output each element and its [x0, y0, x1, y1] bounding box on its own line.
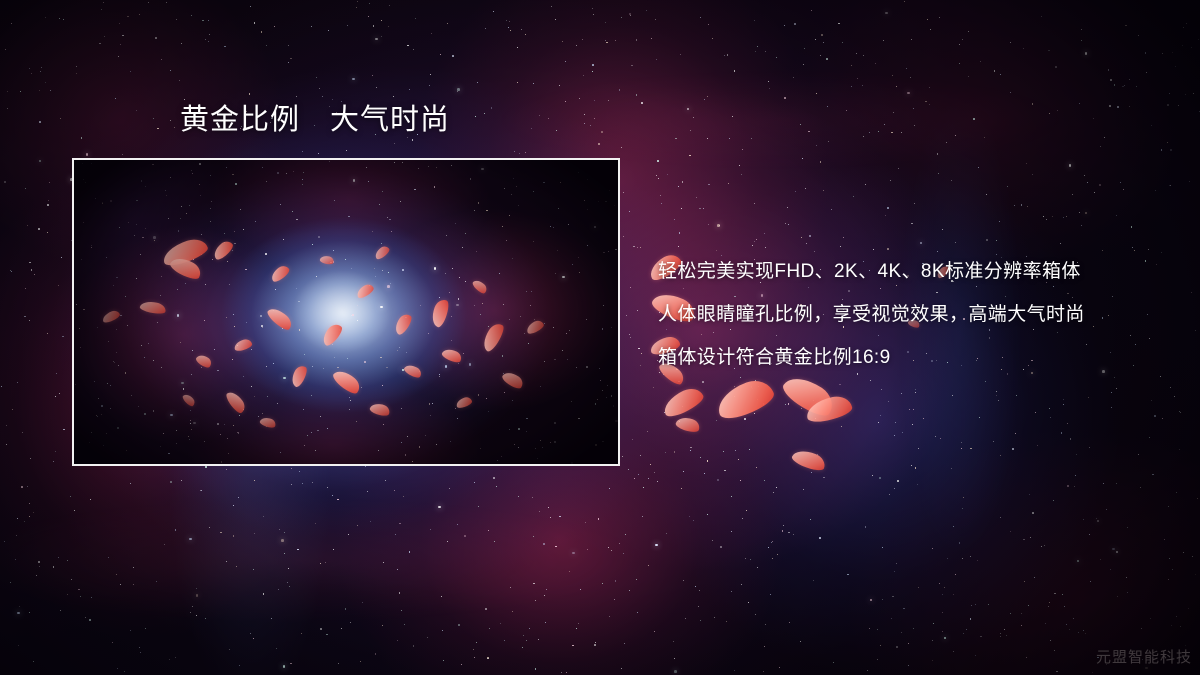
body-line-3: 箱体设计符合黄金比例16:9	[658, 336, 1158, 379]
watermark: 元盟智能科技	[1096, 646, 1192, 667]
panel-image	[74, 160, 618, 464]
slide-title: 黄金比例 大气时尚	[180, 102, 450, 138]
body-line-1: 轻松完美实现FHD、2K、4K、8K标准分辨率箱体	[658, 250, 1158, 293]
body-text-block: 轻松完美实现FHD、2K、4K、8K标准分辨率箱体 人体眼睛瞳孔比例，享受视觉效…	[658, 250, 1158, 379]
panel-vignette	[74, 160, 618, 464]
slide-canvas: 黄金比例 大气时尚 轻松完美实现FHD、2K、4K、8K标准分辨率箱体 人体眼睛…	[0, 0, 1200, 675]
body-line-2: 人体眼睛瞳孔比例，享受视觉效果，高端大气时尚	[658, 293, 1158, 336]
image-panel-16x9	[72, 158, 620, 466]
